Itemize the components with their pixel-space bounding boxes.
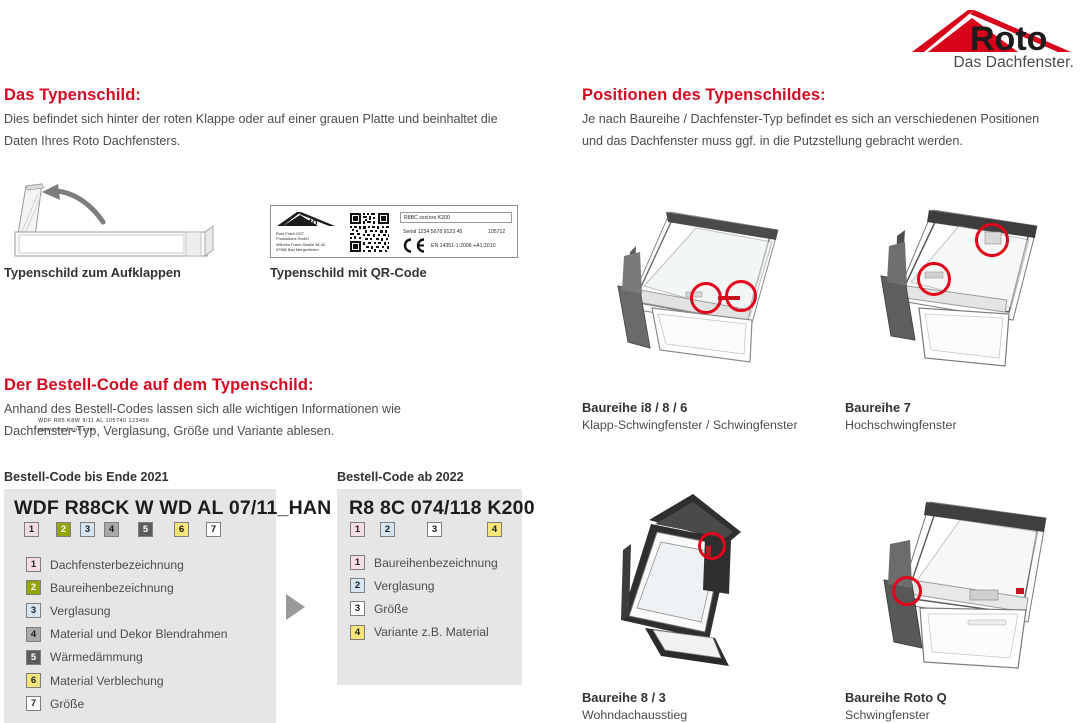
legend-row: 4Material und Dekor Blendrahmen	[26, 627, 227, 642]
ce-mark-icon	[401, 238, 427, 253]
plate-norm: EN 14351-1:2006 +A1:2010	[431, 243, 495, 249]
window-2-title: Baureihe 7	[845, 400, 911, 415]
plate-address: Roto Frank DST Produktions GmbH Wilhelm-…	[276, 231, 325, 253]
legend-row: 4Variante z.B. Material	[350, 625, 489, 640]
plate-code-box: R8BC xxx/xxx K200	[400, 212, 512, 223]
highlight-ring	[975, 223, 1009, 257]
window-3-subtitle: Wohndachausstieg	[582, 708, 687, 722]
window-photo-1	[600, 190, 810, 370]
highlight-ring	[917, 262, 951, 296]
code-marker-badge: 1	[24, 522, 39, 537]
legend-row: 6Material Verblechung	[26, 673, 164, 688]
arrow-right-icon	[286, 594, 305, 620]
highlight-ring	[690, 282, 722, 314]
panel-bestellcode-new: R8 8C 074/118 K200 1234 1Baureihenbezeic…	[337, 489, 522, 685]
code-marker-badge: 4	[104, 522, 119, 537]
legend-label: Größe	[50, 697, 84, 711]
code-marker-badge: 5	[26, 650, 41, 665]
highlight-ring	[698, 532, 726, 560]
code-marker-badge: 2	[350, 578, 365, 593]
code-marker-badge: 4	[350, 625, 365, 640]
heading-bestellcode: Der Bestell-Code auf dem Typenschild:	[4, 376, 314, 395]
svg-text:Roto: Roto	[970, 20, 1047, 58]
code-marker-badge: 6	[174, 522, 189, 537]
paragraph-positionen: Je nach Baureihe / Dachfenster-Typ befin…	[582, 108, 1052, 152]
figure-caption-qr: Typenschild mit QR-Code	[270, 265, 427, 280]
heading-positionen: Positionen des Typenschildes:	[582, 86, 826, 105]
code-marker-badge: 2	[26, 580, 41, 595]
legend-row: 7Größe	[26, 696, 84, 711]
paragraph-typenschild: Dies befindet sich hinter der roten Klap…	[4, 108, 534, 152]
code-marker-badge: 1	[350, 555, 365, 570]
plate-serial: Serial 1234 5678 9123 45	[403, 229, 462, 235]
figure-caption-flip: Typenschild zum Aufklappen	[4, 265, 181, 280]
legend-row: 2Verglasung	[350, 578, 435, 593]
legend-label: Material Verblechung	[50, 674, 164, 688]
flip-nameplate-illustration: WDF R85 K8W 9/11 AL 105740 123456 www.ro…	[8, 182, 218, 260]
legend-label: Verglasung	[50, 604, 111, 618]
legend-label: Dachfensterbezeichnung	[50, 558, 184, 572]
window-1-subtitle: Klapp-Schwingfenster / Schwingfenster	[582, 418, 798, 432]
legend-row: 3Verglasung	[26, 603, 111, 618]
window-photo-4	[850, 480, 1065, 670]
legend-label: Baureihenbezeichnung	[50, 581, 174, 595]
legend-row: 2Baureihenbezeichnung	[26, 580, 174, 595]
legend-label: Größe	[374, 602, 408, 616]
legend-row: 5Wärmedämmung	[26, 650, 143, 665]
legend-label: Material und Dekor Blendrahmen	[50, 627, 227, 641]
plate-serial-right: 105712	[488, 229, 505, 235]
page-root: Roto Das Dachfenster. Das Typenschild: D…	[0, 0, 1080, 723]
panel-bestellcode-old: WDF R88CK W WD AL 07/11_HAN 1234567 1Dac…	[4, 489, 276, 723]
highlight-ring	[725, 280, 757, 312]
panel-new-title: Bestell-Code ab 2022	[337, 470, 464, 484]
window-photo-3	[605, 480, 815, 670]
logo-claim: Das Dachfenster.	[954, 54, 1075, 72]
code-marker-badge: 2	[380, 522, 395, 537]
legend-row: 3Größe	[350, 601, 408, 616]
paragraph-bestellcode: Anhand des Bestell-Codes lassen sich all…	[4, 398, 404, 442]
code-marker-badge: 2	[56, 522, 71, 537]
legend-row: 1Baureihenbezeichnung	[350, 555, 498, 570]
legend-label: Variante z.B. Material	[374, 625, 489, 639]
window-1-title: Baureihe i8 / 8 / 6	[582, 400, 687, 415]
legend-row: 1Dachfensterbezeichnung	[26, 557, 184, 572]
svg-text:Roto: Roto	[297, 217, 318, 227]
code-marker-badge: 7	[26, 696, 41, 711]
code-marker-badge: 4	[26, 627, 41, 642]
window-3-title: Baureihe 8 / 3	[582, 690, 666, 705]
plate-code-text: R8BC xxx/xxx K200	[404, 215, 450, 221]
panel-new-code: R8 8C 074/118 K200	[349, 497, 535, 520]
window-4-subtitle: Schwingfenster	[845, 708, 930, 722]
code-marker-badge: 3	[26, 603, 41, 618]
code-marker-badge: 1	[26, 557, 41, 572]
legend-label: Baureihenbezeichnung	[374, 556, 498, 570]
heading-typenschild: Das Typenschild:	[4, 86, 141, 105]
qr-nameplate: Roto Roto Frank DST Produktions GmbH Wil…	[270, 205, 518, 258]
code-marker-badge: 3	[80, 522, 95, 537]
window-2-subtitle: Hochschwingfenster	[845, 418, 957, 432]
code-marker-badge: 4	[487, 522, 502, 537]
code-marker-badge: 6	[26, 673, 41, 688]
panel-new-marker-row: 1234	[337, 522, 522, 538]
legend-label: Wärmedämmung	[50, 650, 143, 664]
roto-logo: Roto Das Dachfenster.	[908, 8, 1076, 74]
code-marker-badge: 7	[206, 522, 221, 537]
highlight-ring	[892, 576, 922, 606]
window-photo-2	[855, 190, 1065, 370]
code-marker-badge: 3	[427, 522, 442, 537]
legend-label: Verglasung	[374, 579, 435, 593]
code-marker-badge: 5	[138, 522, 153, 537]
window-4-title: Baureihe Roto Q	[845, 690, 947, 705]
panel-old-code: WDF R88CK W WD AL 07/11_HAN	[14, 497, 331, 520]
code-marker-badge: 1	[350, 522, 365, 537]
plate-roto-logo: Roto	[275, 210, 337, 230]
qr-code-icon	[349, 212, 390, 253]
panel-old-title: Bestell-Code bis Ende 2021	[4, 470, 168, 484]
code-marker-badge: 3	[350, 601, 365, 616]
panel-old-marker-row: 1234567	[4, 522, 276, 538]
